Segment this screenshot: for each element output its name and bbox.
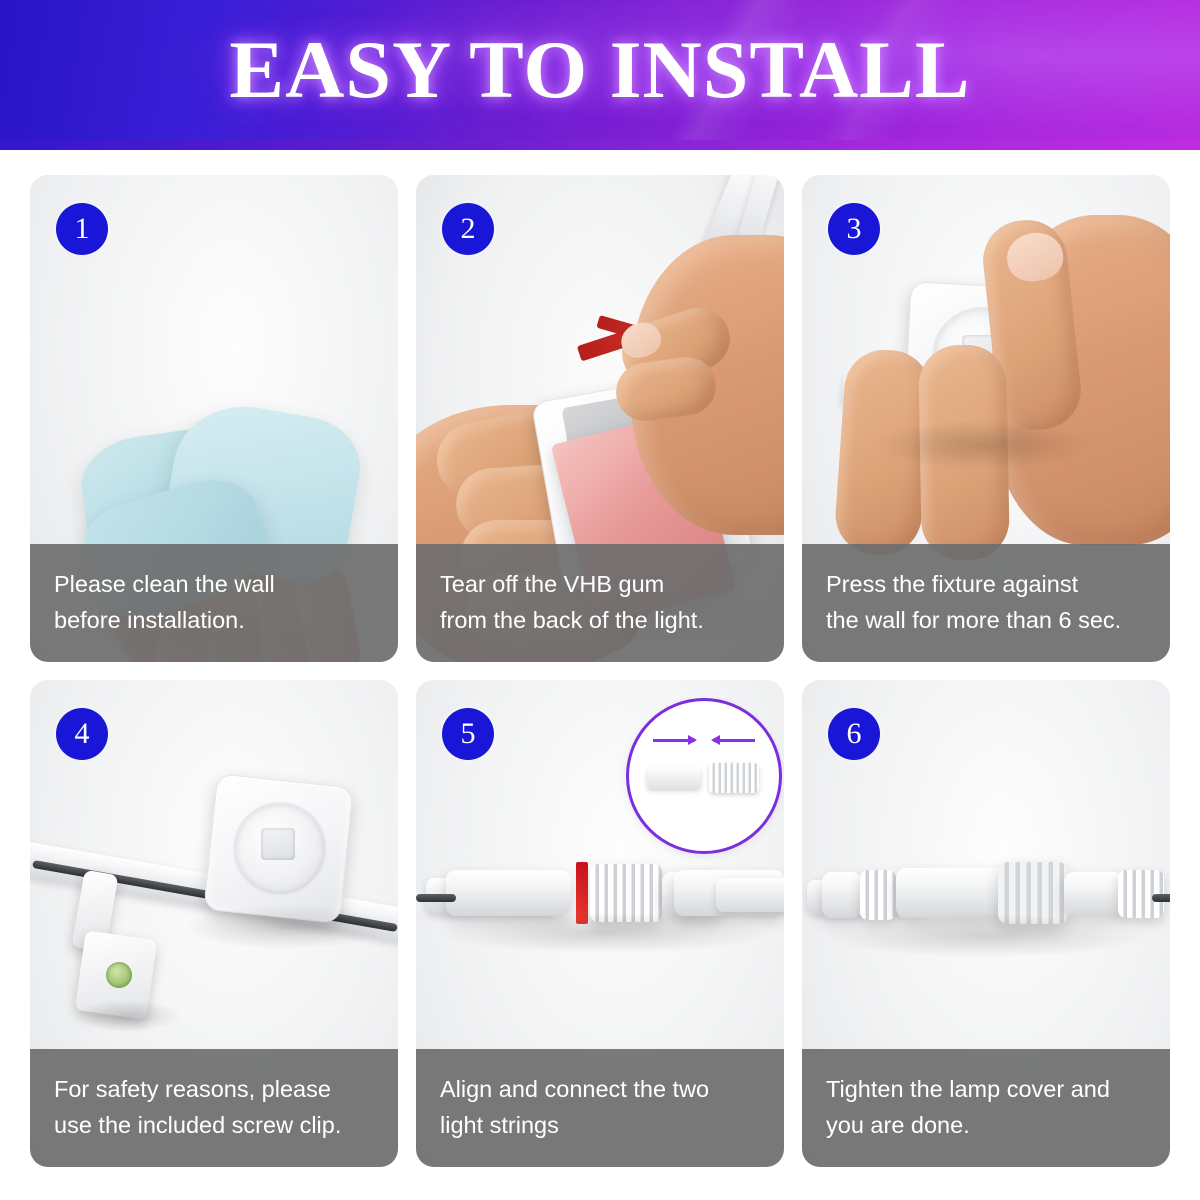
clip-screw xyxy=(106,962,132,988)
lamp-cover-body xyxy=(896,868,1006,918)
caption-line-2: before installation. xyxy=(54,602,374,638)
mini-socket-icon xyxy=(709,763,759,793)
step-caption-5: Align and connect the two light strings xyxy=(416,1049,784,1167)
step-card-4: 4 For safety reasons, please use the inc… xyxy=(30,680,398,1167)
step-caption-6: Tighten the lamp cover and you are done. xyxy=(802,1049,1170,1167)
header-banner: EASY TO INSTALL xyxy=(0,0,1200,140)
step-badge-6: 6 xyxy=(828,708,880,760)
caption-line-1: Please clean the wall xyxy=(54,571,275,597)
caption-line-2: you are done. xyxy=(826,1107,1146,1143)
caption-line-1: Align and connect the two xyxy=(440,1076,709,1102)
arrow-right-icon xyxy=(653,739,695,742)
step-card-3: 3 Press the fixture against the wall for… xyxy=(802,175,1170,662)
connector-left xyxy=(446,870,571,916)
led-chip xyxy=(261,828,295,860)
step-card-5: 5 Align and connect the two light string… xyxy=(416,680,784,1167)
caption-line-1: Press the fixture against xyxy=(826,571,1078,597)
install-steps-grid: 1 Please clean the wall before installat… xyxy=(0,150,1200,1195)
page-title: EASY TO INSTALL xyxy=(0,0,1200,140)
caption-line-2: light strings xyxy=(440,1107,760,1143)
step-caption-4: For safety reasons, please use the inclu… xyxy=(30,1049,398,1167)
arrow-left-icon xyxy=(713,739,755,742)
connector-threads xyxy=(860,870,896,920)
step-caption-2: Tear off the VHB gum from the back of th… xyxy=(416,544,784,662)
mini-plug-icon xyxy=(647,767,701,789)
step-badge-2: 2 xyxy=(442,203,494,255)
caption-line-1: For safety reasons, please xyxy=(54,1076,331,1102)
step-card-6: 6 Tighten the lamp cover and you are don… xyxy=(802,680,1170,1167)
connector-alignment-diagram xyxy=(626,698,782,854)
light-cable-wire xyxy=(1152,894,1170,902)
step-card-1: 1 Please clean the wall before installat… xyxy=(30,175,398,662)
light-cable xyxy=(716,878,784,912)
step-badge-3: 3 xyxy=(828,203,880,255)
step-caption-3: Press the fixture against the wall for m… xyxy=(802,544,1170,662)
banner-divider xyxy=(0,140,1200,150)
step-card-2: 2 Tear off the VHB gum from the back of … xyxy=(416,175,784,662)
caption-line-1: Tear off the VHB gum xyxy=(440,571,664,597)
connector-neck xyxy=(1064,872,1124,916)
step-badge-5: 5 xyxy=(442,708,494,760)
step-badge-4: 4 xyxy=(56,708,108,760)
caption-line-2: use the included screw clip. xyxy=(54,1107,374,1143)
caption-line-2: the wall for more than 6 sec. xyxy=(826,602,1146,638)
step-caption-1: Please clean the wall before installatio… xyxy=(30,544,398,662)
caption-line-2: from the back of the light. xyxy=(440,602,760,638)
connector-end xyxy=(822,872,862,918)
step-badge-1: 1 xyxy=(56,203,108,255)
caption-line-1: Tighten the lamp cover and xyxy=(826,1076,1110,1102)
